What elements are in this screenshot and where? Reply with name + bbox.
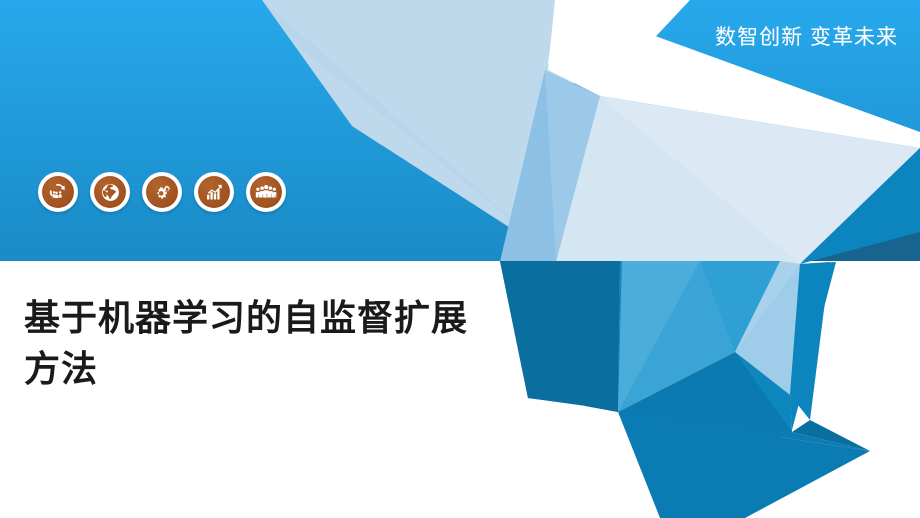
page-title-line-1: 基于机器学习的自监督扩展 (24, 292, 544, 343)
tagline-text: 数智创新 变革未来 (715, 26, 898, 49)
polygonal-background (0, 0, 920, 518)
icon-badge-gears[interactable] (142, 172, 182, 212)
people-group-icon (250, 176, 282, 208)
refresh-cycle-icon (42, 176, 74, 208)
page-title: 基于机器学习的自监督扩展 方法 (24, 292, 544, 394)
globe-icon (94, 176, 126, 208)
bar-chart-growth-icon (198, 176, 230, 208)
gears-icon (146, 176, 178, 208)
icon-row (38, 172, 286, 212)
presentation-slide: 数智创新 变革未来 (0, 0, 920, 518)
icon-badge-people[interactable] (246, 172, 286, 212)
icon-badge-refresh[interactable] (38, 172, 78, 212)
icon-badge-globe[interactable] (90, 172, 130, 212)
page-title-line-2: 方法 (24, 343, 544, 394)
lower-facets (500, 261, 880, 518)
icon-badge-chart[interactable] (194, 172, 234, 212)
